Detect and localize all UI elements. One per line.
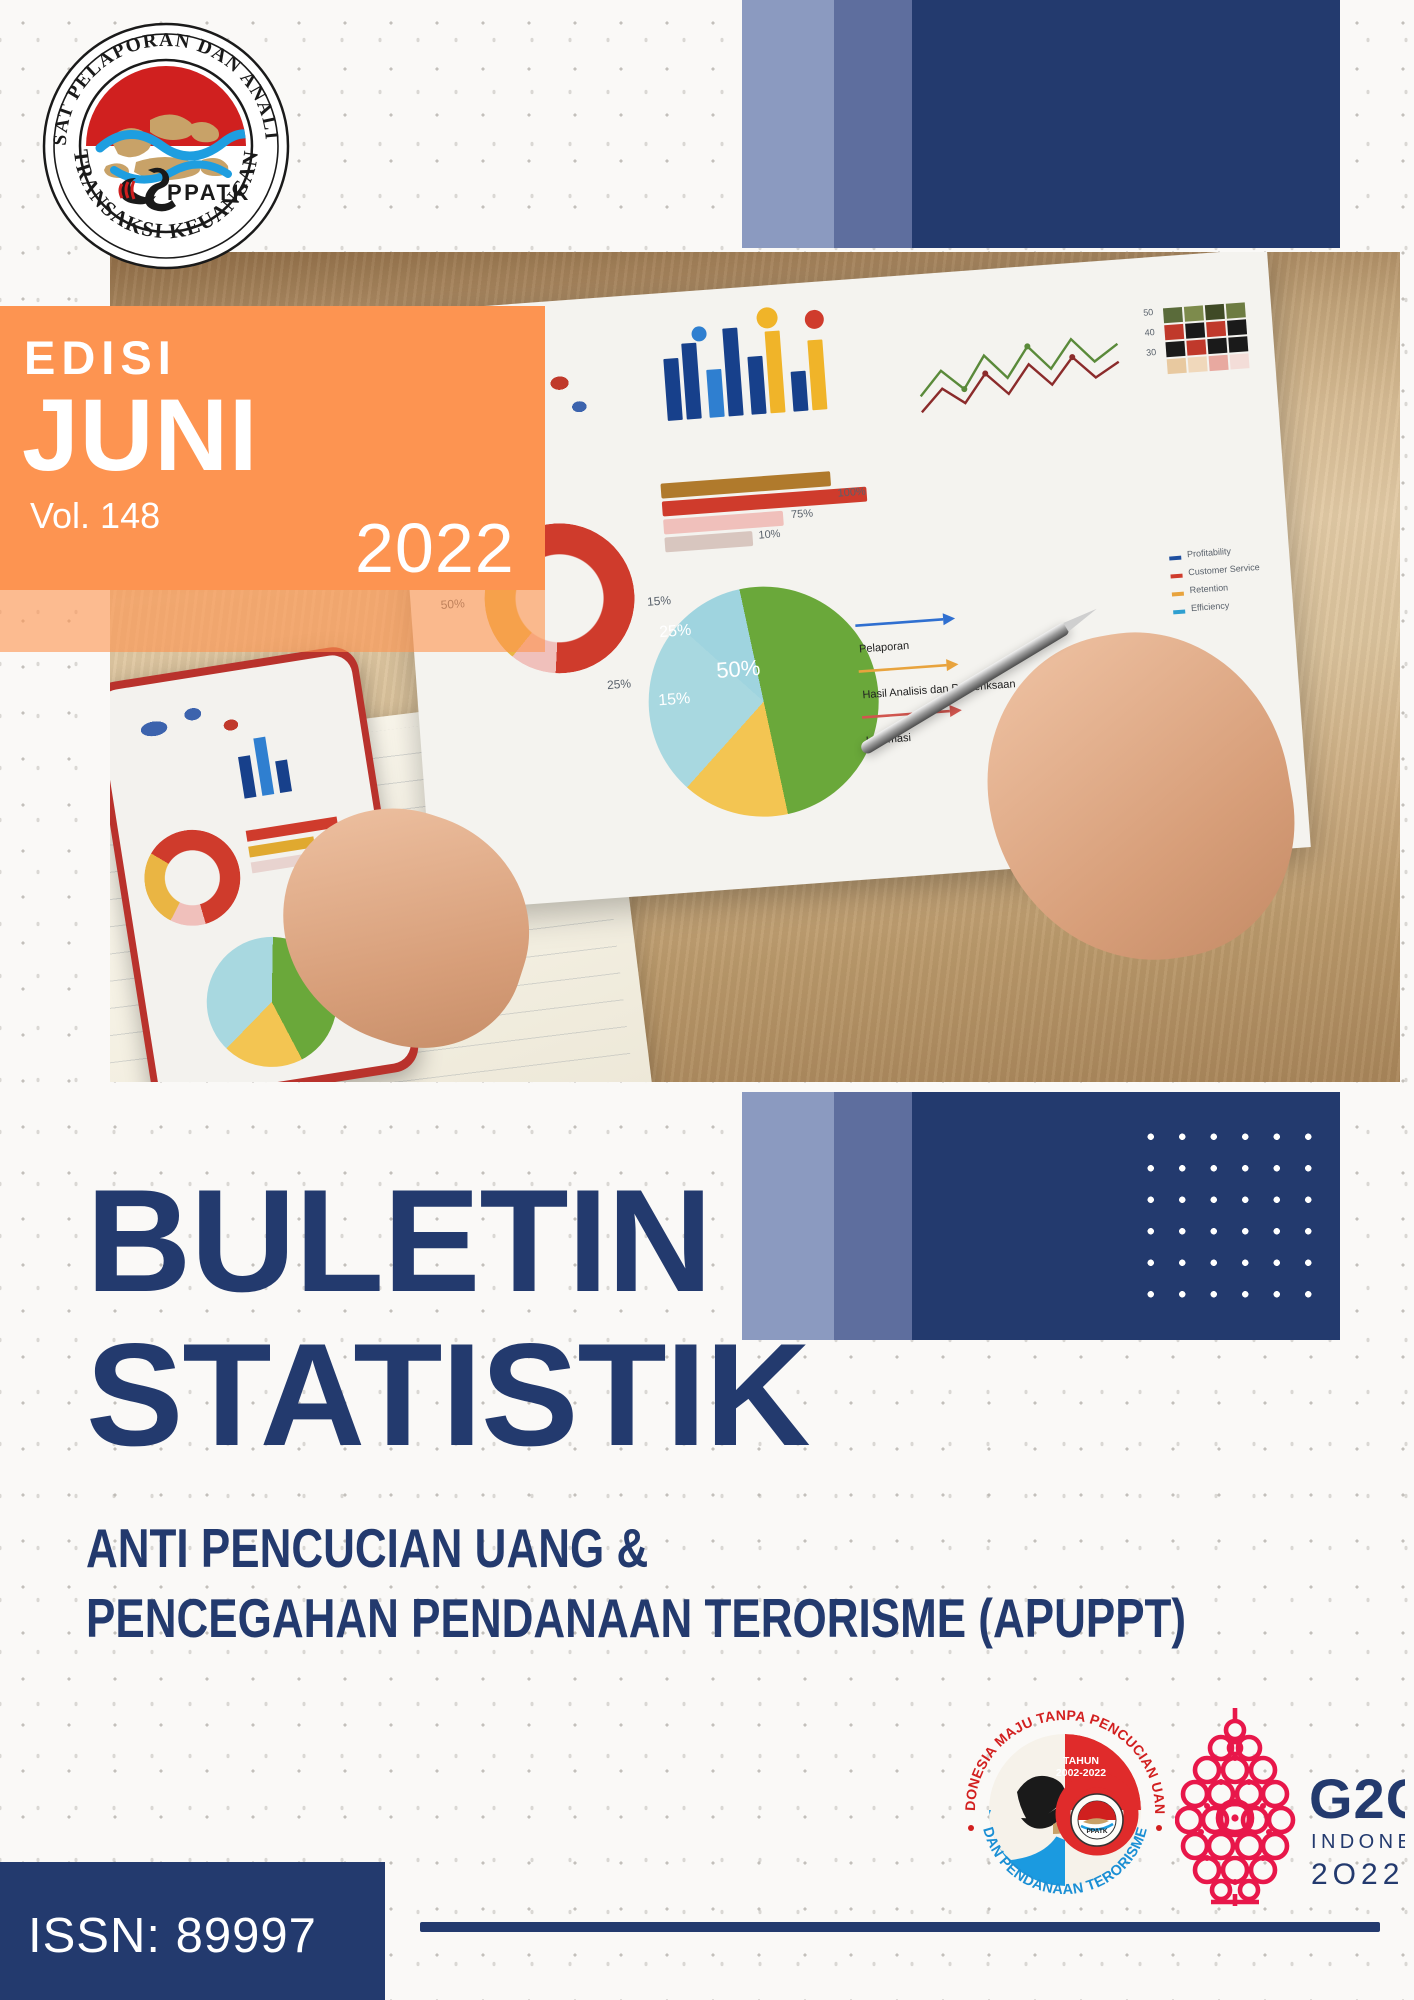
phone-bar-3 xyxy=(275,760,292,793)
sheet-pie-major: 50% xyxy=(715,655,761,684)
sheet-hbar-4 xyxy=(664,531,753,552)
sheet-pct-e: 100% xyxy=(837,486,866,500)
anniv-tahun-label: TAHUN xyxy=(1063,1755,1099,1767)
top-band-navy xyxy=(912,0,1340,248)
g20-indonesia-2022-logo: G2O INDONESIA 2O22 xyxy=(1175,1700,1405,1915)
sheet-vbar-3 xyxy=(706,369,724,418)
top-band-medium xyxy=(834,0,912,248)
phone-donut xyxy=(137,823,247,933)
g20-wordmark: G2O xyxy=(1309,1767,1405,1830)
sheet-legend-4: Profitability xyxy=(1187,546,1232,559)
phone-bar-1 xyxy=(238,755,256,798)
sheet-vbar-7 xyxy=(791,371,809,412)
edition-volume: Vol. 148 xyxy=(30,495,160,537)
white-dot-grid xyxy=(1132,1118,1322,1318)
edition-year: 2022 xyxy=(355,508,515,588)
sheet-axis-1: 50 xyxy=(1143,307,1154,318)
sheet-axis-3: 30 xyxy=(1146,347,1157,358)
sheet-bubble-3 xyxy=(804,309,824,329)
sheet-pct-d: 75% xyxy=(791,508,814,522)
issn-label: ISSN: 89997 xyxy=(28,1908,317,1964)
phone-bar-2 xyxy=(253,737,274,796)
mid-band-medium xyxy=(834,1092,912,1340)
page-title-line2: STATISTIK xyxy=(86,1322,810,1468)
sheet-pct-c: 25% xyxy=(607,676,632,692)
anniv-tahun-range: 2002-2022 xyxy=(1056,1767,1106,1779)
svg-text:PPATK: PPATK xyxy=(1086,1828,1107,1835)
sheet-vbar-4 xyxy=(722,328,743,417)
page-title-line1: BULETIN xyxy=(86,1168,712,1314)
sheet-legend-swatch-4 xyxy=(1173,610,1185,615)
sheet-legend-7: Efficiency xyxy=(1191,600,1230,613)
sheet-pct-f: 10% xyxy=(758,528,781,542)
g20-country: INDONESIA xyxy=(1311,1831,1405,1853)
sheet-bubble-2 xyxy=(756,307,778,329)
sheet-legend-6: Retention xyxy=(1189,582,1228,595)
sheet-axis-2: 40 xyxy=(1144,327,1155,338)
sheet-legend-5: Customer Service xyxy=(1188,562,1260,577)
sheet-legend-swatch-1 xyxy=(1169,556,1181,561)
sheet-heatmap xyxy=(1163,302,1254,384)
page-subtitle-line1: ANTI PENCUCIAN UANG & xyxy=(86,1513,648,1583)
ppatk-20-years-logo: PPATK TAHUN 2002-2022 INDONESIA MAJU TAN… xyxy=(955,1700,1175,1920)
sheet-vbar-1 xyxy=(663,358,683,421)
page-subtitle-line2: PENCEGAHAN PENDANAAN TERORISME (APUPPT) xyxy=(86,1583,1186,1653)
ppatk-seal: PPATK PUSAT PELAPORAN DAN ANALISIS TRANS… xyxy=(40,20,292,272)
sheet-vbar-2 xyxy=(681,343,702,420)
edition-block-fade xyxy=(0,590,545,652)
sheet-vbar-6 xyxy=(765,330,786,413)
sheet-pie-minor-b: 15% xyxy=(658,690,691,710)
edition-month: JUNI xyxy=(22,384,258,486)
mid-band-light xyxy=(742,1092,834,1340)
edition-label: EDISI xyxy=(24,330,177,385)
issn-rule xyxy=(420,1922,1380,1932)
sheet-pie-minor-a: 25% xyxy=(659,622,692,642)
top-band-light xyxy=(742,0,834,248)
sheet-line-chart xyxy=(912,319,1138,431)
sheet-pct-b: 15% xyxy=(647,593,672,609)
sheet-vbar-5 xyxy=(747,356,766,415)
sheet-bubble-1 xyxy=(691,326,707,342)
cover-page: Customer Satisfaction Employee Satisfact… xyxy=(0,0,1414,2000)
sheet-vbar-8 xyxy=(807,339,827,410)
sheet-legend-swatch-3 xyxy=(1172,592,1184,597)
sheet-legend-swatch-2 xyxy=(1170,574,1182,579)
g20-year: 2O22 xyxy=(1311,1858,1404,1891)
